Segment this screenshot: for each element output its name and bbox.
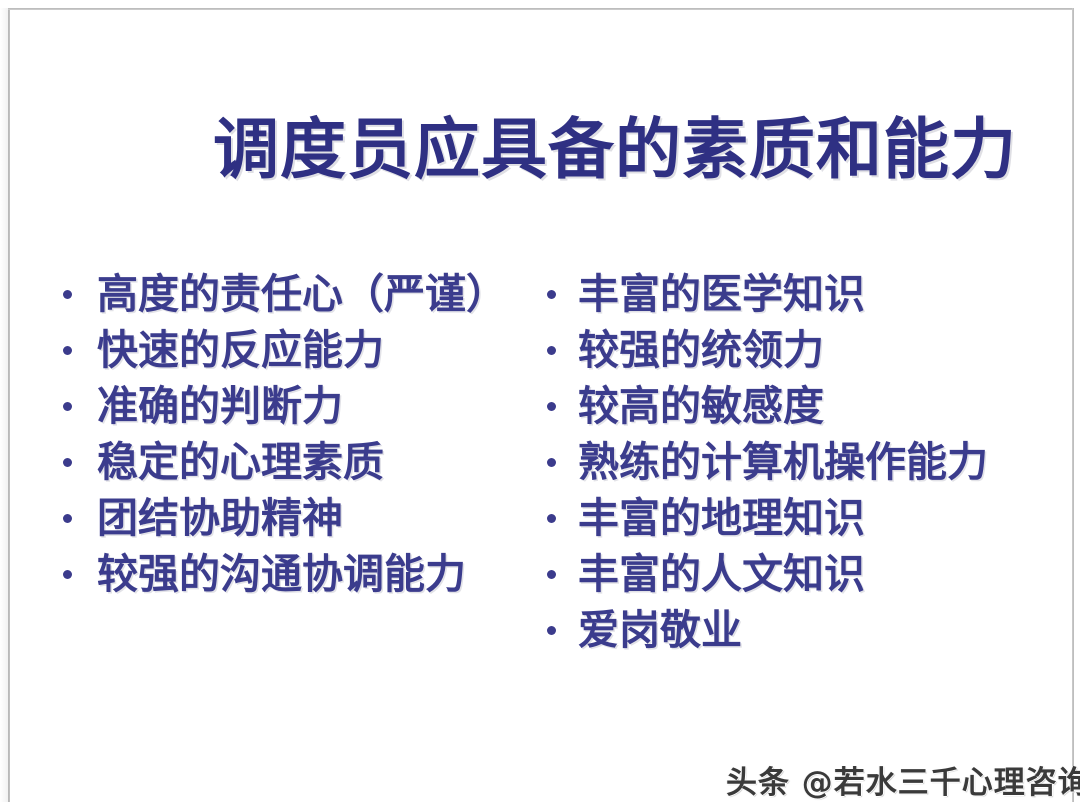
dot-bullet-icon (547, 514, 556, 523)
list-item-label: 快速的反应能力 (97, 324, 384, 376)
list-item-label: 丰富的人文知识 (578, 548, 865, 600)
list-item: 丰富的医学知识 (538, 268, 1038, 324)
dot-bullet-icon (63, 346, 72, 355)
slide-canvas: 调度员应具备的素质和能力 高度的责任心（严谨） 快速的反应能力 准确的判断力 (10, 10, 1072, 802)
list-item-label: 较强的沟通协调能力 (97, 548, 466, 600)
list-item: 熟练的计算机操作能力 (538, 436, 1038, 492)
page-edge-right (1072, 8, 1074, 802)
dot-bullet-icon (547, 402, 556, 411)
list-item-label: 准确的判断力 (97, 380, 343, 432)
dot-bullet-icon (63, 570, 72, 579)
dot-bullet-icon (63, 290, 72, 299)
list-item-label: 团结协助精神 (97, 492, 343, 544)
page-edge-right-glow (1074, 0, 1080, 802)
dot-bullet-icon (547, 290, 556, 299)
page-edge-top-glow (0, 0, 1080, 8)
list-item: 稳定的心理素质 (52, 436, 522, 492)
dot-bullet-icon (63, 458, 72, 467)
list-item-label: 高度的责任心（严谨） (97, 268, 507, 320)
dot-bullet-icon (547, 570, 556, 579)
list-item: 爱岗敬业 (538, 604, 1038, 660)
list-item-label: 熟练的计算机操作能力 (578, 436, 988, 488)
page-title: 调度员应具备的素质和能力 (213, 114, 1003, 187)
list-item: 丰富的人文知识 (538, 548, 1038, 604)
list-item: 团结协助精神 (52, 492, 522, 548)
list-item: 较高的敏感度 (538, 380, 1038, 436)
slide-frame: 调度员应具备的素质和能力 高度的责任心（严谨） 快速的反应能力 准确的判断力 (0, 0, 1080, 802)
dot-bullet-icon (547, 346, 556, 355)
list-item-label: 爱岗敬业 (578, 604, 742, 656)
list-item-label: 丰富的地理知识 (578, 492, 865, 544)
list-item: 丰富的地理知识 (538, 492, 1038, 548)
dot-bullet-icon (547, 626, 556, 635)
bullet-columns: 高度的责任心（严谨） 快速的反应能力 准确的判断力 稳定的心理素质 团结协助精神 (10, 268, 1072, 688)
list-item-label: 丰富的医学知识 (578, 268, 865, 320)
list-item: 准确的判断力 (52, 380, 522, 436)
list-item: 快速的反应能力 (52, 324, 522, 380)
list-item: 较强的统领力 (538, 324, 1038, 380)
bullet-column-left: 高度的责任心（严谨） 快速的反应能力 准确的判断力 稳定的心理素质 团结协助精神 (52, 268, 522, 604)
bullet-column-right: 丰富的医学知识 较强的统领力 较高的敏感度 熟练的计算机操作能力 丰富的地理知识 (538, 268, 1038, 660)
list-item-label: 稳定的心理素质 (97, 436, 384, 488)
dot-bullet-icon (547, 458, 556, 467)
page-edge-left-glow (0, 8, 8, 802)
watermark: 头条 @若水三千心理咨询师 (726, 757, 1080, 802)
list-item: 较强的沟通协调能力 (52, 548, 522, 604)
dot-bullet-icon (63, 514, 72, 523)
dot-bullet-icon (63, 402, 72, 411)
list-item: 高度的责任心（严谨） (52, 268, 522, 324)
list-item-label: 较高的敏感度 (578, 380, 824, 432)
list-item-label: 较强的统领力 (578, 324, 824, 376)
